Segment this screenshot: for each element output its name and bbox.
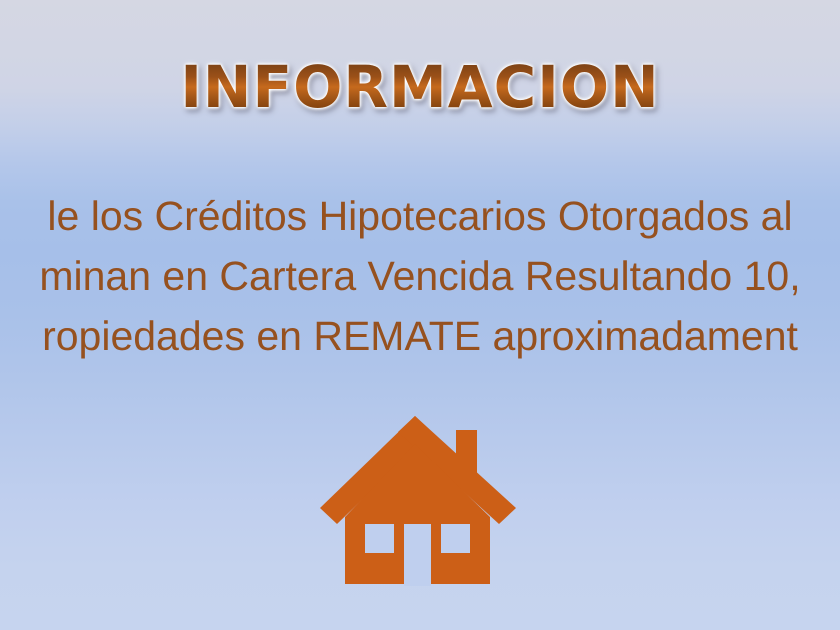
slide-canvas: INFORMACION le los Créditos Hipotecarios… bbox=[0, 0, 840, 630]
house-window-left bbox=[365, 524, 394, 553]
house-icon bbox=[320, 412, 530, 592]
page-title: INFORMACION bbox=[180, 54, 659, 120]
body-line-3: ropiedades en REMATE aproximadament bbox=[0, 306, 840, 366]
house-chimney bbox=[456, 430, 477, 480]
house-door bbox=[404, 524, 431, 586]
body-line-2: minan en Cartera Vencida Resultando 10, bbox=[0, 246, 840, 306]
body-text-block: le los Créditos Hipotecarios Otorgados a… bbox=[0, 186, 840, 366]
house-window-right bbox=[441, 524, 470, 553]
house-icon-svg bbox=[320, 412, 530, 592]
title-block: INFORMACION bbox=[0, 54, 840, 120]
body-line-1: le los Créditos Hipotecarios Otorgados a… bbox=[0, 186, 840, 246]
